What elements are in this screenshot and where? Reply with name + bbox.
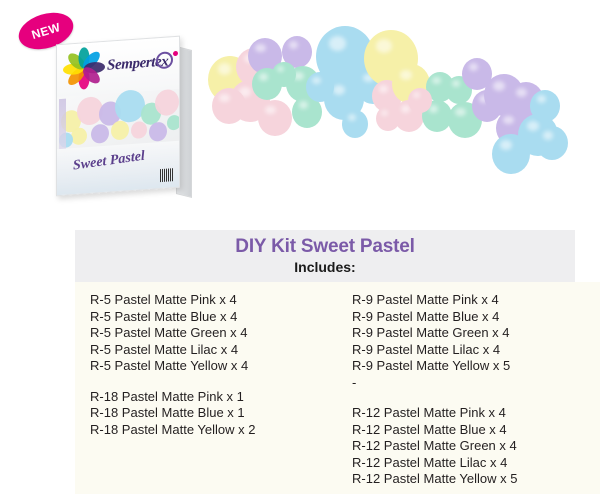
contents-columns: R-5 Pastel Matte Pink x 4R-5 Pastel Matt…	[90, 292, 590, 488]
balloon-shape-icon	[155, 89, 179, 117]
contents-block: R-9 Pastel Matte Pink x 4R-9 Pastel Matt…	[352, 292, 584, 391]
list-item: R-12 Pastel Matte Green x 4	[352, 438, 584, 455]
list-item: R-5 Pastel Matte Yellow x 4	[90, 358, 322, 375]
list-item: R-9 Pastel Matte Yellow x 5	[352, 358, 584, 375]
list-item: R-12 Pastel Matte Pink x 4	[352, 405, 584, 422]
balloon-shape-icon	[536, 126, 568, 160]
balloon-shape-icon	[342, 110, 368, 138]
list-item: R-9 Pastel Matte Lilac x 4	[352, 342, 584, 359]
page-title: DIY Kit Sweet Pastel	[75, 236, 575, 258]
product-box-front: Sempertex Sweet Pastel	[56, 36, 180, 197]
contents-block: R-18 Pastel Matte Pink x 1R-18 Pastel Ma…	[90, 389, 322, 439]
list-item: R-5 Pastel Matte Pink x 4	[90, 292, 322, 309]
separator-dash: -	[352, 375, 584, 392]
includes-label: Includes:	[75, 259, 575, 275]
balloon-shape-icon	[306, 72, 334, 102]
product-box: Sempertex Sweet Pastel	[48, 32, 198, 222]
info-panel-body: R-5 Pastel Matte Pink x 4R-5 Pastel Matt…	[75, 282, 600, 494]
balloon-shape-icon	[91, 124, 109, 145]
balloon-garland-photo	[196, 18, 596, 208]
brand-accent-dot-icon	[173, 51, 178, 56]
list-item: R-9 Pastel Matte Pink x 4	[352, 292, 584, 309]
balloon-shape-icon	[149, 122, 167, 143]
list-item: R-12 Pastel Matte Blue x 4	[352, 422, 584, 439]
balloon-shape-icon	[258, 100, 292, 136]
page-root: NEW Sempertex Sweet Pastel	[0, 0, 600, 494]
list-item: R-5 Pastel Matte Green x 4	[90, 325, 322, 342]
balloon-shape-icon	[167, 115, 179, 131]
list-item: R-12 Pastel Matte Yellow x 5	[352, 471, 584, 488]
list-item: R-5 Pastel Matte Blue x 4	[90, 309, 322, 326]
pinwheel-balloon-logo-icon	[61, 44, 107, 93]
balloon-shape-icon	[111, 120, 129, 141]
balloon-shape-icon	[492, 134, 530, 174]
contents-column-2: R-9 Pastel Matte Pink x 4R-9 Pastel Matt…	[352, 292, 584, 488]
hero-product-image: NEW Sempertex Sweet Pastel	[0, 0, 600, 228]
barcode-icon	[160, 168, 174, 182]
list-item: R-18 Pastel Matte Blue x 1	[90, 405, 322, 422]
info-panel-header: DIY Kit Sweet Pastel Includes:	[75, 230, 575, 282]
product-box-footer: Sweet Pastel	[57, 141, 179, 196]
list-item: R-5 Pastel Matte Lilac x 4	[90, 342, 322, 359]
balloon-shape-icon	[115, 89, 145, 123]
list-item: R-9 Pastel Matte Blue x 4	[352, 309, 584, 326]
contents-block: R-12 Pastel Matte Pink x 4R-12 Pastel Ma…	[352, 405, 584, 488]
list-item: R-12 Pastel Matte Lilac x 4	[352, 455, 584, 472]
product-name: Sweet Pastel	[73, 149, 146, 175]
balloon-shape-icon	[212, 88, 246, 124]
balloon-shape-icon	[71, 127, 87, 145]
balloon-shape-icon	[376, 106, 400, 131]
contents-column-1: R-5 Pastel Matte Pink x 4R-5 Pastel Matt…	[90, 292, 322, 488]
list-item: R-9 Pastel Matte Green x 4	[352, 325, 584, 342]
balloon-shape-icon	[131, 121, 147, 139]
contents-block: R-5 Pastel Matte Pink x 4R-5 Pastel Matt…	[90, 292, 322, 375]
list-item: R-18 Pastel Matte Pink x 1	[90, 389, 322, 406]
list-item: R-18 Pastel Matte Yellow x 2	[90, 422, 322, 439]
balloon-shape-icon	[530, 90, 560, 122]
